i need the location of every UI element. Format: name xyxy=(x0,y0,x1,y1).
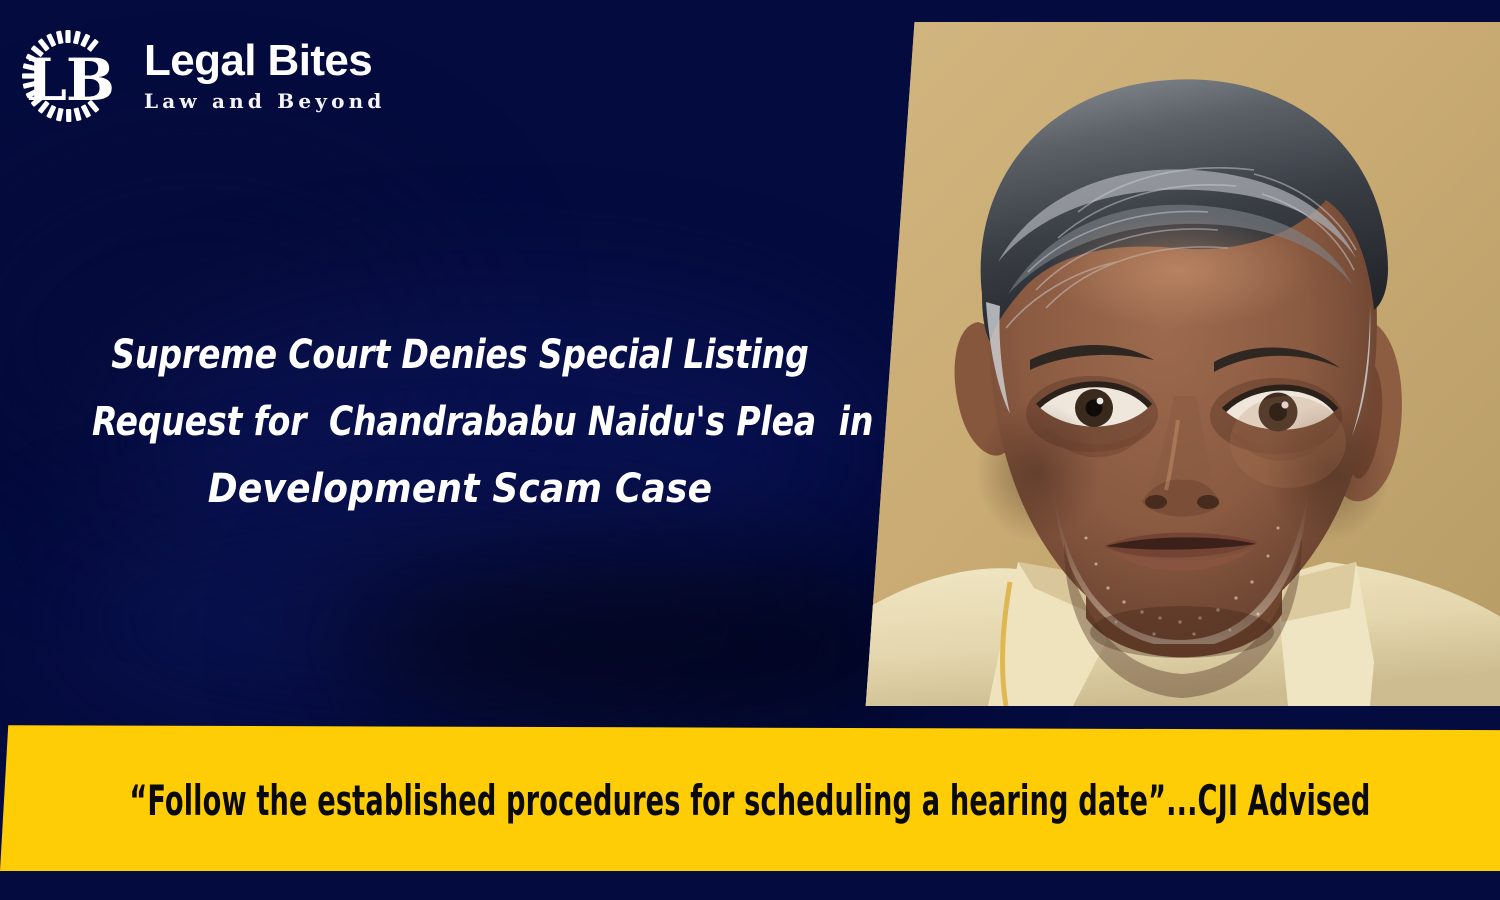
headline-line-1: Supreme Court Denies Special Listing xyxy=(92,322,828,389)
brand-wordmark: Legal Bites Law and Beyond xyxy=(144,36,386,116)
brand-tagline: Law and Beyond xyxy=(144,86,386,116)
headline-line-2: Request for Chandrababu Naidu's Plea in xyxy=(92,389,828,456)
portrait-photo xyxy=(858,22,1500,706)
logo-ring-dashes-icon: LB xyxy=(16,20,128,132)
background-blob xyxy=(60,520,780,720)
news-card: LB Legal Bites Law and Beyond xyxy=(0,0,1500,900)
background-blob xyxy=(330,560,950,730)
bottom-strip xyxy=(0,871,1500,900)
brand-logo[interactable]: LB Legal Bites Law and Beyond xyxy=(16,20,386,132)
svg-text:LB: LB xyxy=(26,46,114,114)
quote-band: “Follow the established procedures for s… xyxy=(0,723,1500,871)
headline-line-3: Development Scam Case xyxy=(60,456,860,523)
headline: Supreme Court Denies Special Listing Req… xyxy=(60,322,860,523)
quote-text: “Follow the established procedures for s… xyxy=(129,770,1370,824)
brand-name: Legal Bites xyxy=(144,38,386,84)
